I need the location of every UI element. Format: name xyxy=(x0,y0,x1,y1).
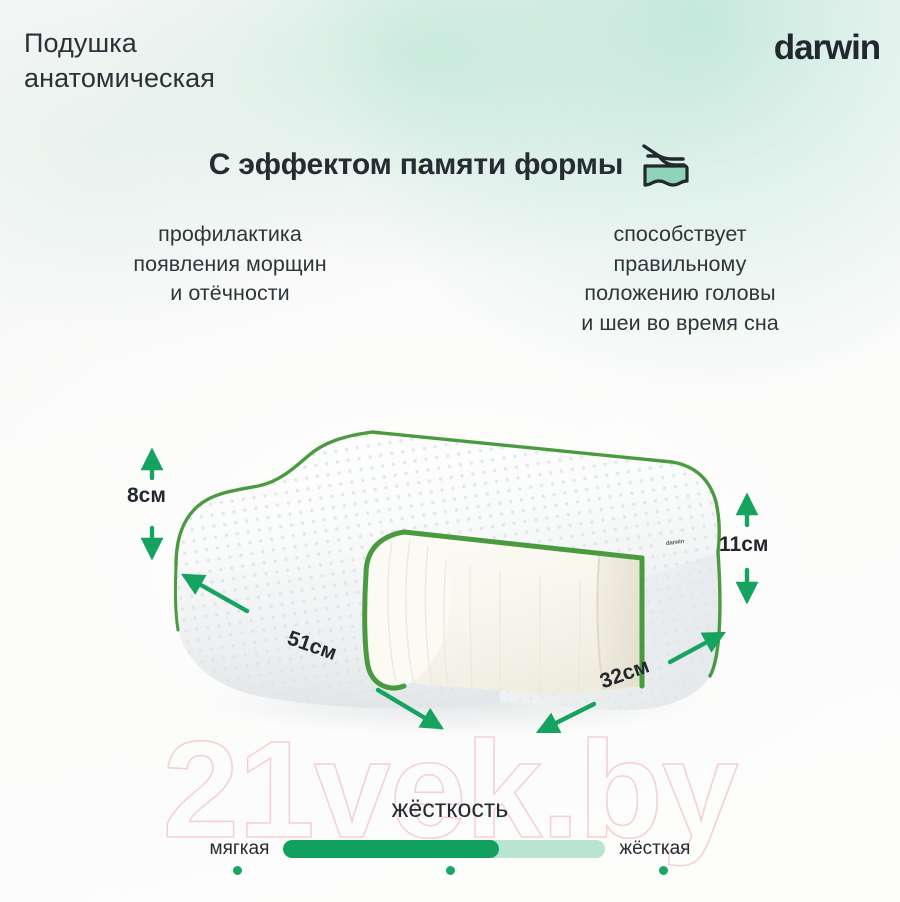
firmness-scale: мягкая жёсткая xyxy=(0,838,900,860)
infographic-page: 21vek.by Подушка анатомическая darwin С … xyxy=(0,0,900,902)
firmness-min-label: мягкая xyxy=(210,838,270,860)
hand-pressing-memory-foam-icon xyxy=(639,143,691,187)
feature-left-line-2: появления морщин xyxy=(30,250,430,280)
firmness-dot-3 xyxy=(659,866,668,875)
firmness-title: жёсткость xyxy=(0,795,900,824)
feature-right-line-1: способствует xyxy=(480,220,880,250)
feature-left-line-1: профилактика xyxy=(30,220,430,250)
feature-right-line-4: и шеи во время сна xyxy=(480,309,880,339)
firmness-track xyxy=(283,840,605,858)
feature-right-line-3: положению головы xyxy=(480,279,880,309)
product-illustration xyxy=(0,390,900,770)
brand-logo: darwin xyxy=(774,28,880,68)
dimension-height-low: 8см xyxy=(127,484,166,508)
firmness-max-label: жёсткая xyxy=(619,838,690,860)
firmness-fill xyxy=(283,840,499,858)
feature-left: профилактика появления морщин и отёчност… xyxy=(0,220,460,339)
firmness-dot-2 xyxy=(446,866,455,875)
firmness-dot-1 xyxy=(233,866,242,875)
page-title-line-1: Подушка xyxy=(24,26,215,61)
firmness-dots xyxy=(0,866,900,880)
dimension-height-high: 11см xyxy=(719,533,768,557)
headline-row: С эффектом памяти формы xyxy=(0,143,900,187)
feature-left-line-3: и отёчности xyxy=(30,279,430,309)
feature-right-line-2: правильному xyxy=(480,250,880,280)
features-row: профилактика появления морщин и отёчност… xyxy=(0,220,900,339)
headline-text: С эффектом памяти формы xyxy=(209,148,623,182)
feature-right: способствует правильному положению голов… xyxy=(460,220,900,339)
page-title: Подушка анатомическая xyxy=(24,26,215,97)
page-title-line-2: анатомическая xyxy=(24,61,215,96)
